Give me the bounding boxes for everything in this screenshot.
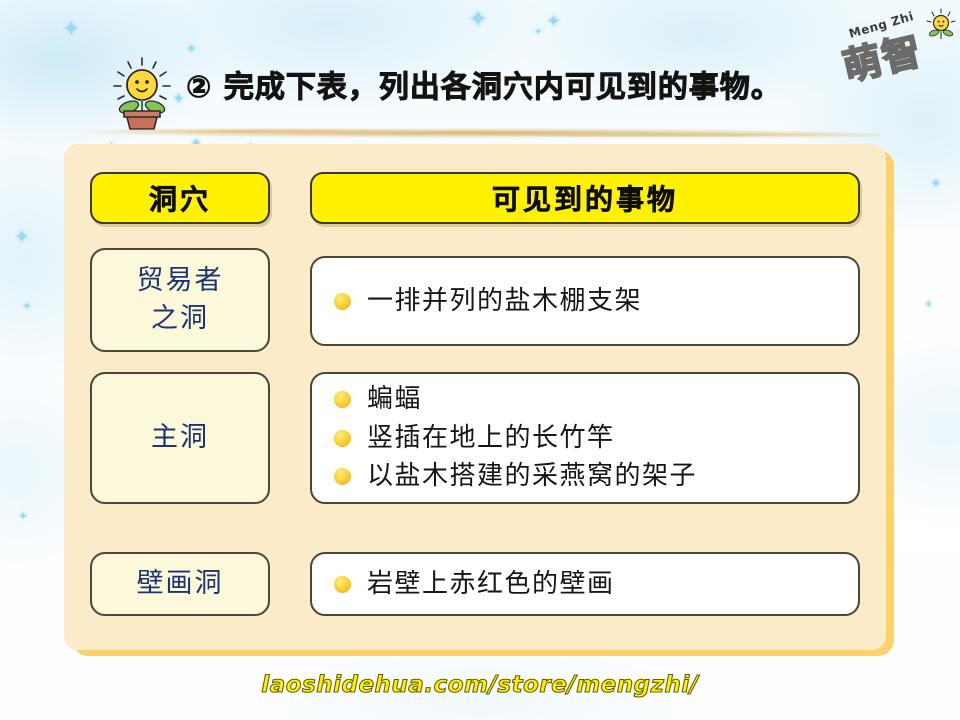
bullet-dot-icon bbox=[334, 576, 351, 593]
column-header-things-label: 可见到的事物 bbox=[492, 178, 678, 218]
table-row-items: 岩壁上赤红色的壁画 bbox=[310, 552, 860, 616]
logo-sunflower-icon bbox=[924, 8, 958, 42]
slide-canvas: ✦✦✦✦✦✦✦✦✦✦✦✦✦✦ ② 完成 bbox=[0, 0, 960, 720]
list-item-label: 一排并列的盐木棚支架 bbox=[367, 285, 642, 318]
page-title: ② 完成下表，列出各洞穴内可见到的事物。 bbox=[186, 62, 886, 106]
list-item: 蝙蝠 bbox=[334, 383, 840, 416]
sparkle-star-icon: ✦ bbox=[186, 42, 197, 55]
bullet-dot-icon bbox=[334, 293, 351, 310]
sparkle-star-icon: ✦ bbox=[930, 176, 942, 190]
sparkle-star-icon: ✦ bbox=[14, 228, 30, 247]
table-row-items: 蝙蝠 竖插在地上的长竹竿 以盐木搭建的采燕窝的架子 bbox=[310, 372, 860, 504]
list-item-label: 岩壁上赤红色的壁画 bbox=[367, 568, 615, 601]
sparkle-star-icon: ✦ bbox=[18, 510, 28, 522]
list-item: 以盐木搭建的采燕窝的架子 bbox=[334, 460, 840, 493]
bullet-dot-icon bbox=[334, 468, 351, 485]
list-item: 一排并列的盐木棚支架 bbox=[334, 285, 840, 318]
column-header-cave: 洞穴 bbox=[90, 172, 270, 224]
table-row-cave-name: 壁画洞 bbox=[90, 552, 270, 616]
sparkle-star-icon: ✦ bbox=[22, 300, 32, 312]
table-row-items: 一排并列的盐木棚支架 bbox=[310, 256, 860, 346]
sparkle-star-icon: ✦ bbox=[924, 300, 933, 311]
sparkle-star-icon: ✦ bbox=[534, 28, 542, 38]
cave-name-label: 主洞 bbox=[151, 419, 209, 457]
column-header-things: 可见到的事物 bbox=[310, 172, 860, 224]
list-item: 竖插在地上的长竹竿 bbox=[334, 422, 840, 455]
cave-name-label: 壁画洞 bbox=[137, 565, 224, 603]
table-row-cave-name: 主洞 bbox=[90, 372, 270, 504]
list-item-label: 以盐木搭建的采燕窝的架子 bbox=[367, 460, 697, 493]
brush-stroke-divider bbox=[70, 126, 880, 140]
sparkle-star-icon: ✦ bbox=[62, 18, 80, 40]
list-item: 岩壁上赤红色的壁画 bbox=[334, 568, 840, 601]
table-row-cave-name: 贸易者 之洞 bbox=[90, 248, 270, 352]
bullet-dot-icon bbox=[334, 391, 351, 408]
cave-name-label: 贸易者 之洞 bbox=[137, 262, 224, 339]
bullet-dot-icon bbox=[334, 430, 351, 447]
potted-sunflower-icon bbox=[106, 55, 178, 133]
sparkle-star-icon: ✦ bbox=[468, 8, 488, 32]
list-item-label: 蝙蝠 bbox=[367, 383, 422, 416]
footer-store-url[interactable]: laoshidehua.com/store/mengzhi/ bbox=[0, 672, 960, 698]
sparkle-star-icon: ✦ bbox=[546, 12, 561, 30]
cave-observations-table: 洞穴 可见到的事物 贸易者 之洞 一排并列的盐木棚支架 主洞 bbox=[64, 144, 886, 650]
column-header-cave-label: 洞穴 bbox=[149, 178, 211, 218]
brand-logo: Meng Zhi 萌智 bbox=[836, 4, 958, 84]
list-item-label: 竖插在地上的长竹竿 bbox=[367, 422, 615, 455]
